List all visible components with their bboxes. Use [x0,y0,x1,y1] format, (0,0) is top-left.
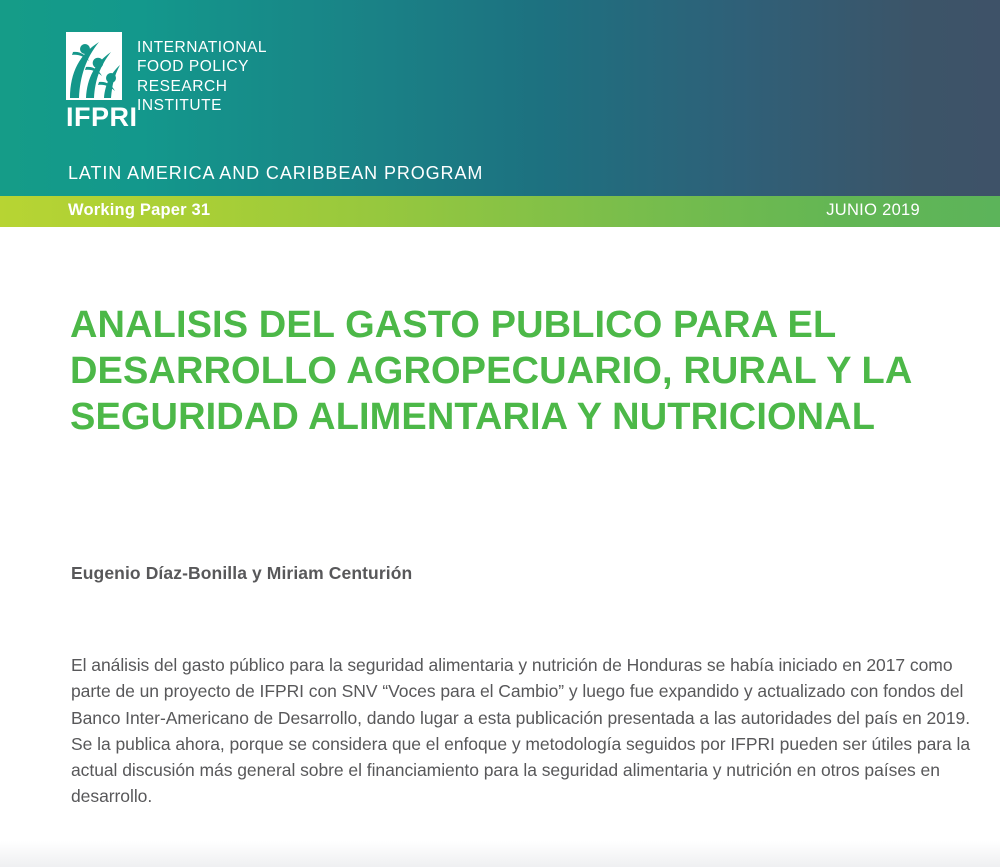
program-name: LATIN AMERICA AND CARIBBEAN PROGRAM [68,163,483,184]
page-title: ANALISIS DEL GASTO PUBLICO PARA EL DESAR… [70,302,930,440]
wordmark-line-2: FOOD POLICY [137,57,267,76]
wordmark-line-1: INTERNATIONAL [137,38,267,57]
ifpri-logo-lockup: IFPRI INTERNATIONAL FOOD POLICY RESEARCH… [66,32,267,132]
working-paper-label: Working Paper 31 [68,201,210,220]
series-banner: Working Paper 31 JUNIO 2019 [0,196,1000,227]
wordmark-line-3: RESEARCH [137,77,267,96]
authors-line: Eugenio Díaz-Bonilla y Miriam Centurión [71,563,412,584]
wordmark-line-4: INSTITUTE [137,96,267,115]
ifpri-logo-block: IFPRI [66,32,122,132]
header-band: IFPRI INTERNATIONAL FOOD POLICY RESEARCH… [0,0,1000,196]
abstract-paragraph: El análisis del gasto público para la se… [71,652,983,810]
publication-date: JUNIO 2019 [826,201,920,220]
ifpri-people-plant-mark-icon [66,32,122,100]
ifpri-wordmark: INTERNATIONAL FOOD POLICY RESEARCH INSTI… [137,38,267,116]
document-cover-page: IFPRI INTERNATIONAL FOOD POLICY RESEARCH… [0,0,1000,867]
cover-content: ANALISIS DEL GASTO PUBLICO PARA EL DESAR… [0,227,1000,867]
ifpri-acronym: IFPRI [66,102,122,132]
